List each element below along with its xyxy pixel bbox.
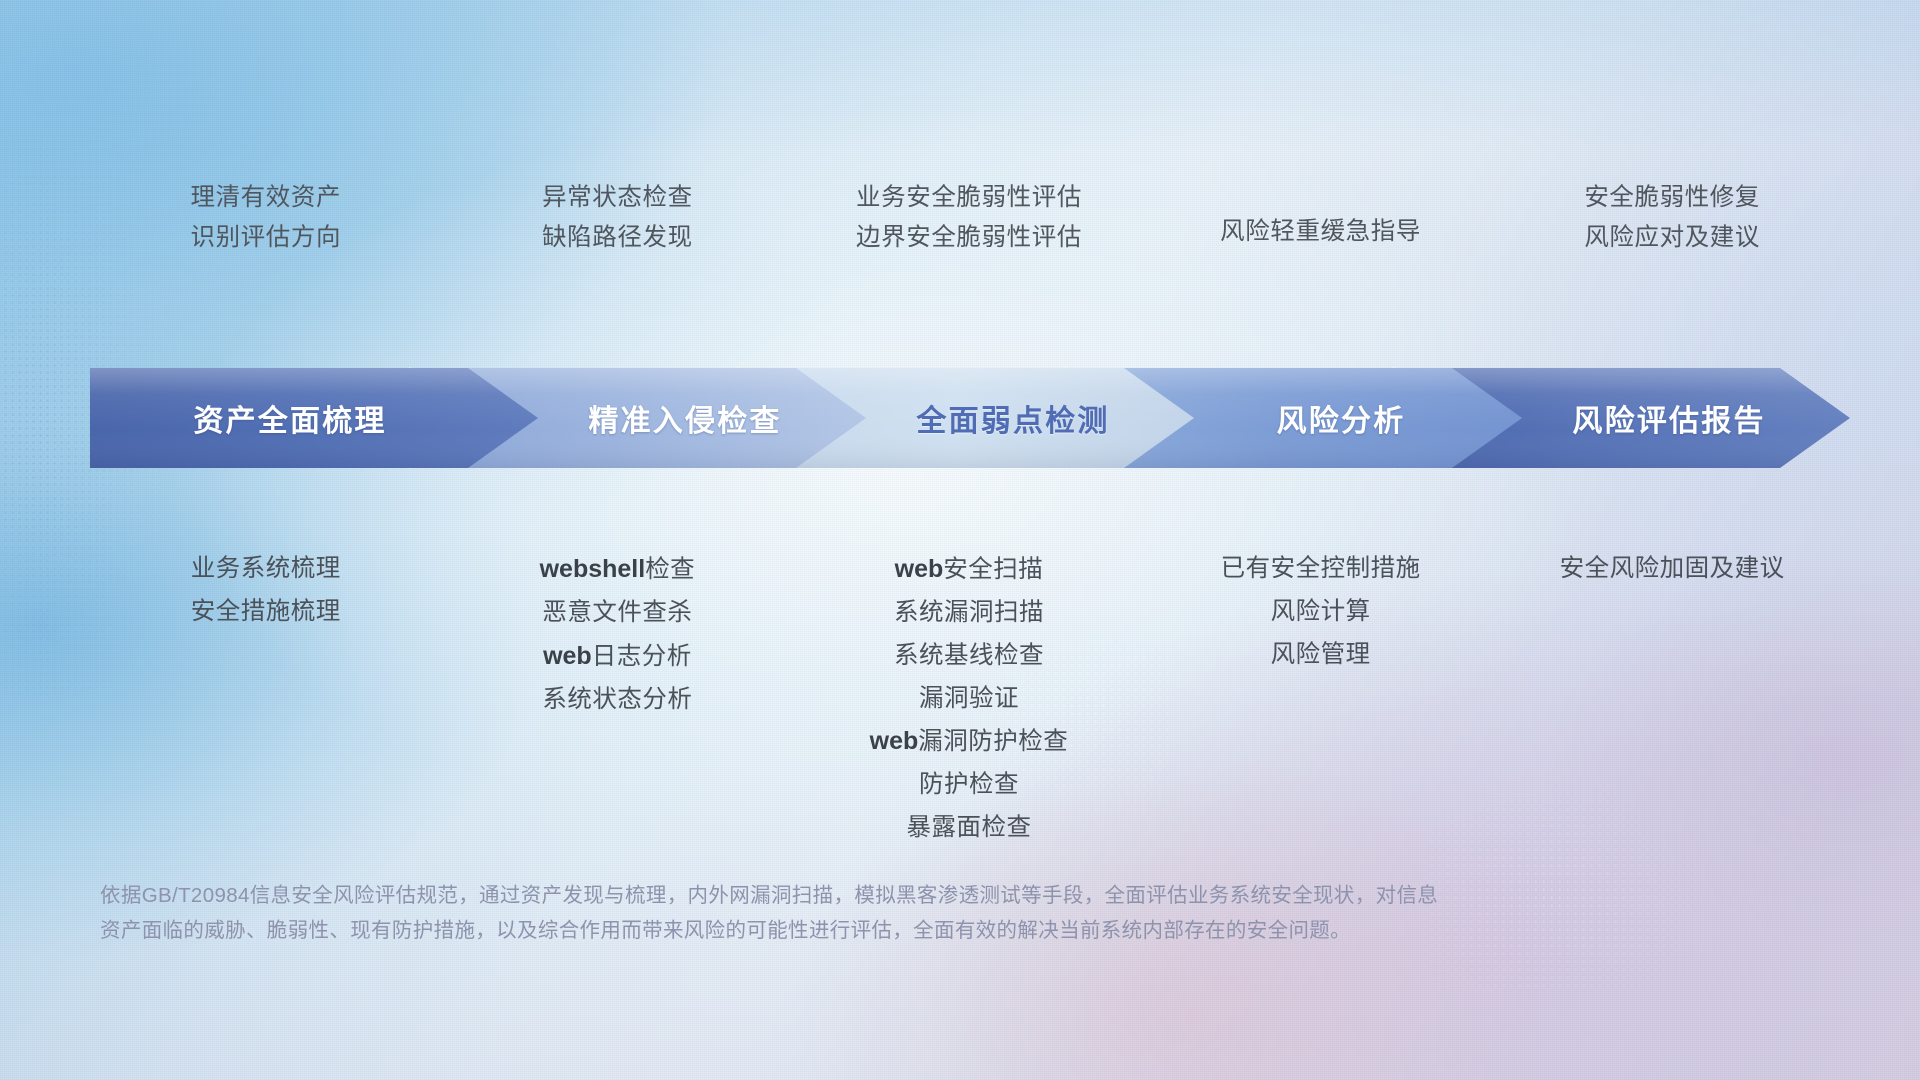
list-item: 漏洞验证	[919, 683, 1019, 715]
list-item: 安全风险加固及建议	[1560, 553, 1785, 585]
footer-line: 依据GB/T20984信息安全风险评估规范，通过资产发现与梳理，内外网漏洞扫描，…	[100, 878, 1630, 913]
upper-label: 理清有效资产	[190, 182, 341, 213]
list-item: 已有安全控制措施	[1221, 553, 1421, 585]
latin-token: web	[870, 727, 919, 755]
lower-list-intrusion-check: webshell检查 恶意文件查杀 web日志分析 系统状态分析	[442, 553, 794, 844]
list-item: 系统漏洞扫描	[894, 597, 1044, 629]
list-item: 风险计算	[1271, 596, 1371, 628]
list-item: web日志分析	[543, 640, 692, 673]
latin-token: web	[543, 642, 592, 670]
upper-labels-asset-inventory: 理清有效资产 识别评估方向	[90, 182, 442, 254]
upper-outcome-labels: 理清有效资产 识别评估方向 异常状态检查 缺陷路径发现 业务安全脆弱性评估 边界…	[90, 182, 1848, 254]
lower-list-asset-inventory: 业务系统梳理 安全措施梳理	[90, 553, 442, 844]
upper-label: 识别评估方向	[190, 222, 341, 253]
upper-label: 风险轻重缓急指导	[1220, 216, 1421, 247]
footer-line: 资产面临的威胁、脆弱性、现有防护措施，以及综合作用而带来风险的可能性进行评估，全…	[100, 913, 1630, 948]
lower-list-risk-analysis: 已有安全控制措施 风险计算 风险管理	[1145, 553, 1497, 844]
list-item: 恶意文件查杀	[542, 597, 692, 629]
lower-list-weakness-detection: web安全扫描 系统漏洞扫描 系统基线检查 漏洞验证 web漏洞防护检查 防护检…	[793, 553, 1145, 844]
upper-labels-weakness-detection: 业务安全脆弱性评估 边界安全脆弱性评估	[793, 182, 1145, 254]
footer-description: 依据GB/T20984信息安全风险评估规范，通过资产发现与梳理，内外网漏洞扫描，…	[100, 878, 1630, 949]
list-item: 业务系统梳理	[191, 553, 341, 585]
upper-label: 缺陷路径发现	[542, 222, 693, 253]
upper-label: 边界安全脆弱性评估	[856, 222, 1082, 253]
lower-activity-lists: 业务系统梳理 安全措施梳理 webshell检查 恶意文件查杀 web日志分析 …	[90, 553, 1848, 844]
upper-label: 业务安全脆弱性评估	[856, 182, 1082, 213]
list-item: 风险管理	[1271, 639, 1371, 671]
process-arrow-ribbon	[90, 368, 1850, 468]
upper-label: 风险应对及建议	[1584, 222, 1760, 253]
upper-labels-intrusion-check: 异常状态检查 缺陷路径发现	[442, 182, 794, 254]
list-item: webshell检查	[540, 553, 696, 586]
arrow-shape-asset-inventory	[90, 368, 538, 468]
latin-token: webshell	[540, 555, 646, 583]
latin-token: web	[895, 555, 944, 583]
list-item: 防护检查	[919, 769, 1019, 801]
list-item: 安全措施梳理	[191, 596, 341, 628]
lower-list-risk-report: 安全风险加固及建议	[1496, 553, 1848, 844]
list-item: 系统基线检查	[894, 640, 1044, 672]
list-item: web安全扫描	[895, 553, 1044, 586]
list-item: web漏洞防护检查	[870, 725, 1069, 758]
upper-labels-risk-report: 安全脆弱性修复 风险应对及建议	[1496, 182, 1848, 254]
upper-label: 异常状态检查	[542, 182, 693, 213]
upper-label: 安全脆弱性修复	[1584, 182, 1760, 213]
upper-labels-risk-analysis: 风险轻重缓急指导	[1145, 182, 1497, 254]
list-item: 暴露面检查	[906, 812, 1031, 844]
list-item: 系统状态分析	[542, 684, 692, 716]
slide-canvas: 理清有效资产 识别评估方向 异常状态检查 缺陷路径发现 业务安全脆弱性评估 边界…	[0, 0, 1920, 1080]
